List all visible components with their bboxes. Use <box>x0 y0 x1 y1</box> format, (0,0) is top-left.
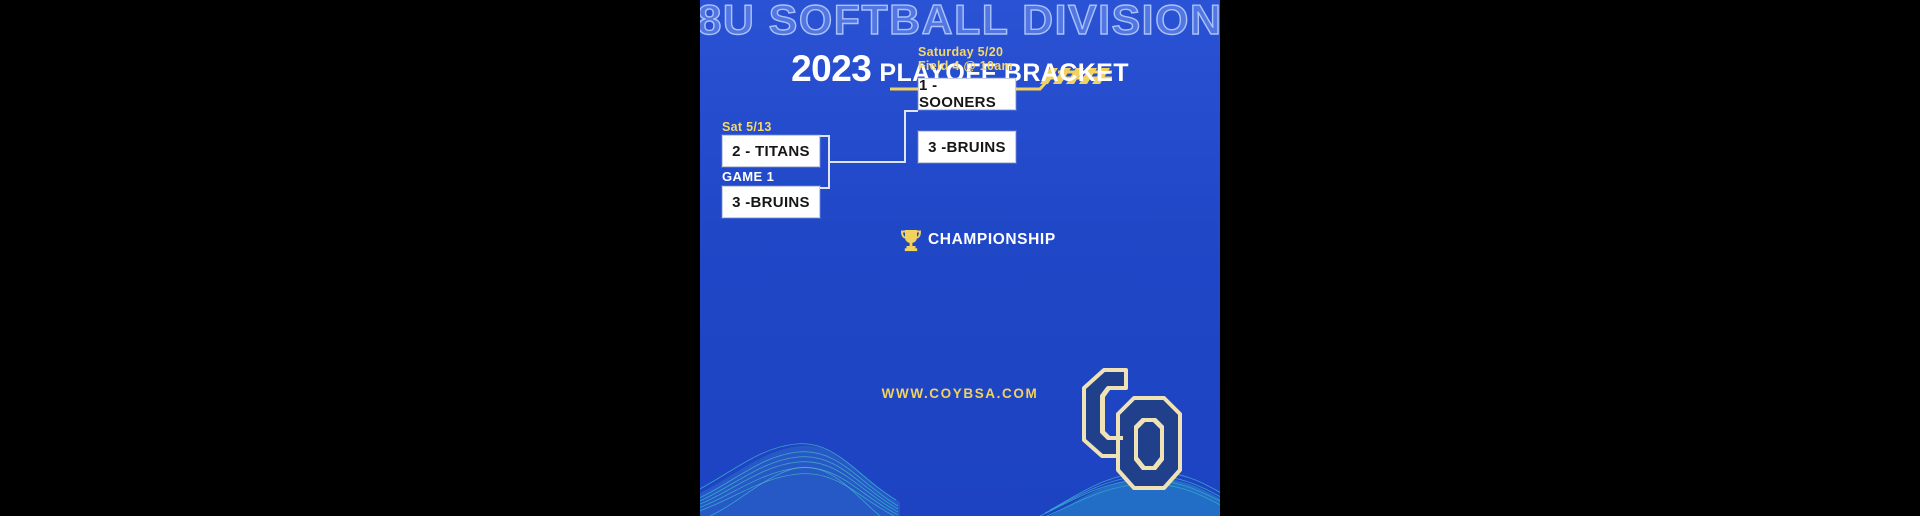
website-url[interactable]: WWW.COYBSA.COM <box>700 386 1220 401</box>
semifinal-team-top[interactable]: 2 - TITANS <box>722 135 820 167</box>
coybsa-logo <box>1078 364 1186 494</box>
trophy-icon <box>900 228 922 252</box>
semifinal-date-label: Sat 5/13 <box>722 120 772 134</box>
bracket-line-sf-to-final <box>828 161 906 163</box>
championship-row: CHAMPIONSHIP <box>900 228 1056 252</box>
championship-label: CHAMPIONSHIP <box>928 231 1056 249</box>
semifinal-game-label: GAME 1 <box>722 169 774 184</box>
final-date-label: Saturday 5/20 Field 4 @ 10am <box>918 45 1013 73</box>
letterbox-right <box>1220 0 1920 516</box>
final-team-bottom[interactable]: 3 -BRUINS <box>918 131 1016 163</box>
letterbox-left <box>0 0 700 516</box>
screenshot-stage: 8U SOFTBALL DIVISION 2023PLAYOFF BRACKET <box>0 0 1920 516</box>
final-team-top[interactable]: 1 - SOONERS <box>918 78 1016 110</box>
year-label: 2023 <box>791 48 871 89</box>
playoff-bracket-poster: 8U SOFTBALL DIVISION 2023PLAYOFF BRACKET <box>700 0 1220 516</box>
bracket-line-final-stub <box>904 110 918 112</box>
division-title: 8U SOFTBALL DIVISION <box>700 0 1220 44</box>
bracket-line-final-vertical <box>904 110 906 163</box>
semifinal-team-bottom[interactable]: 3 -BRUINS <box>722 186 820 218</box>
